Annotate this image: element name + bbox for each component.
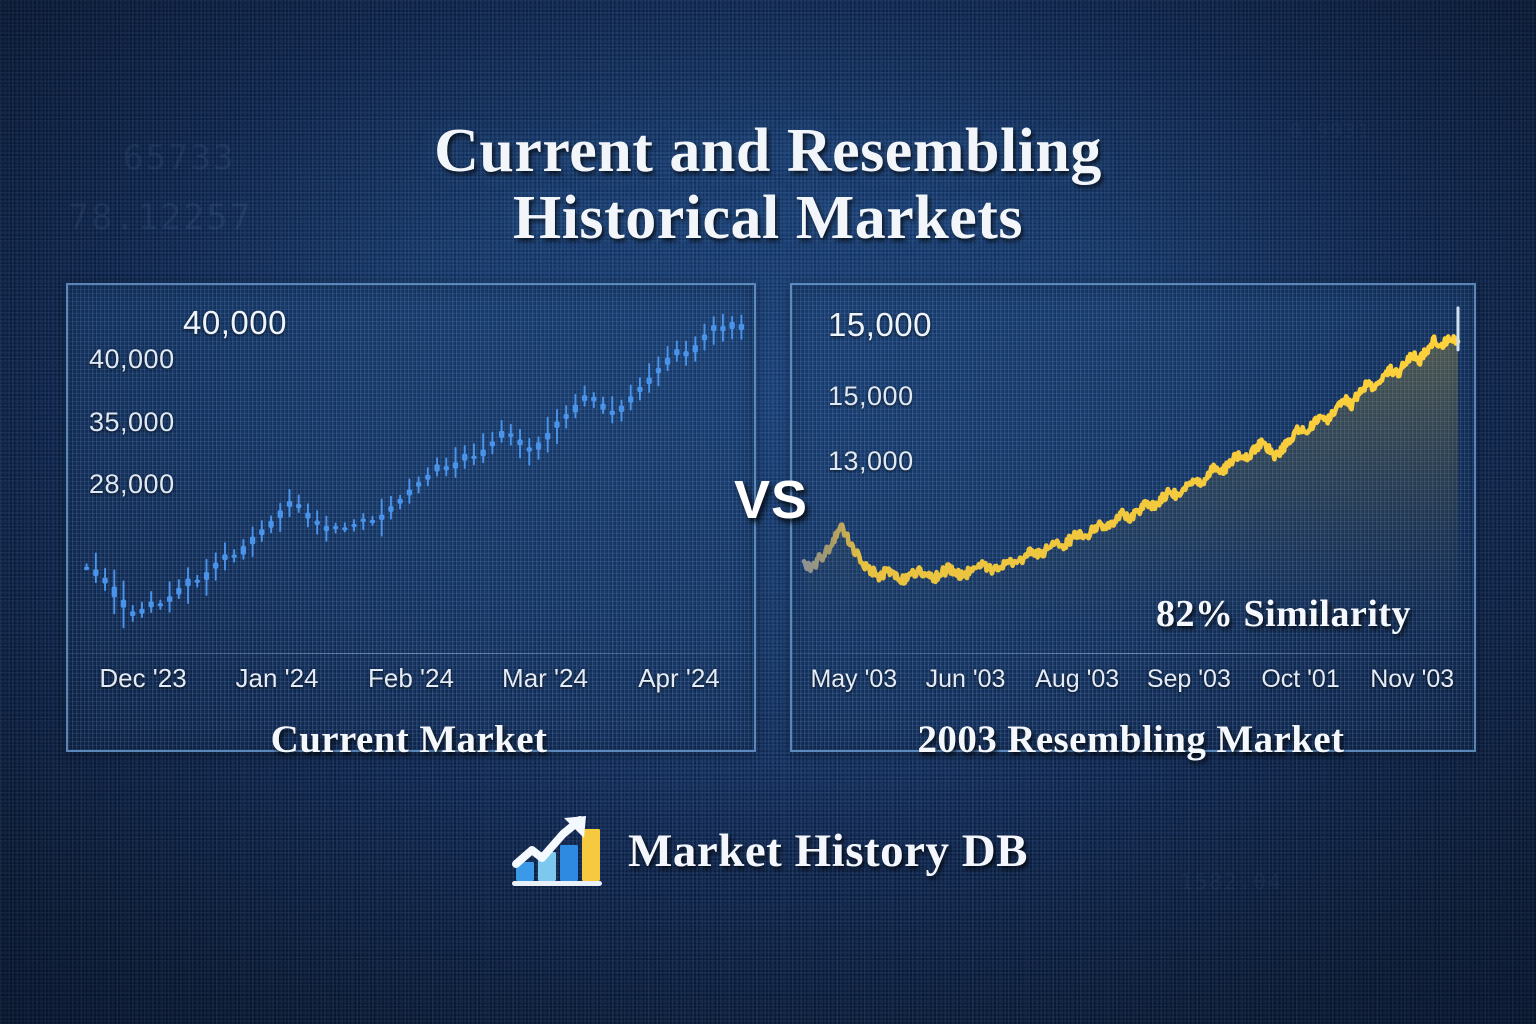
candle-body <box>563 414 568 419</box>
y-axis-label-left-1: 35,000 <box>89 407 175 438</box>
candle-body <box>102 578 107 584</box>
x-axis-rule-right <box>792 653 1474 654</box>
y-axis-label-left-0: 40,000 <box>89 344 175 375</box>
footer-branding: Market History DB <box>0 812 1536 890</box>
x-axis-rule-left <box>68 653 754 654</box>
chart-big-value-left: 40,000 <box>183 304 287 342</box>
candle-body <box>434 464 439 471</box>
vs-label: VS <box>731 469 811 531</box>
x-axis-tick-right-5: Nov '03 <box>1356 665 1468 694</box>
candle-body <box>241 546 246 555</box>
candle-body <box>388 506 393 512</box>
candle-body <box>231 555 236 558</box>
candle-body <box>250 536 255 544</box>
candle-body <box>517 439 522 445</box>
candle-body <box>130 611 135 616</box>
candle-body <box>370 520 375 523</box>
candle-body <box>324 526 329 531</box>
brand-name: Market History DB <box>628 824 1028 878</box>
x-axis-tick-left-0: Dec '23 <box>76 663 210 694</box>
candle-body <box>619 406 624 412</box>
candle-body <box>471 456 476 459</box>
candle-body <box>296 504 301 508</box>
candle-body <box>554 421 559 428</box>
candle-body <box>702 334 707 340</box>
candle-body <box>462 454 467 461</box>
candle-body <box>342 527 347 530</box>
candle-body <box>656 368 661 373</box>
candle-body <box>148 601 153 607</box>
x-axis-tick-left-3: Mar '24 <box>478 663 612 694</box>
candle-body <box>674 349 679 355</box>
candle-body <box>167 596 172 602</box>
candle-body <box>637 387 642 392</box>
candle-body <box>646 377 651 384</box>
candle-body <box>397 499 402 504</box>
candle-body <box>416 482 421 487</box>
candle-body <box>185 578 190 586</box>
candle-body <box>425 475 430 480</box>
candle-body <box>259 529 264 535</box>
page-title-line-2: Historical Markets <box>0 185 1536 253</box>
candle-body <box>222 554 227 560</box>
candle-body <box>665 357 670 364</box>
candle-body <box>711 325 716 331</box>
x-axis-tick-right-0: May '03 <box>798 665 910 694</box>
candle-body <box>693 345 698 353</box>
candle-body <box>600 404 605 410</box>
x-axis-tick-right-3: Sep '03 <box>1133 665 1245 694</box>
candle-body <box>508 433 513 437</box>
y-axis-label-left-2: 28,000 <box>89 469 175 500</box>
candle-body <box>268 521 273 528</box>
candle-body <box>195 580 200 583</box>
candle-body <box>683 351 688 356</box>
candle-body <box>499 431 504 438</box>
candle-body <box>213 563 218 569</box>
x-axis-labels-right: May '03 Jun '03 Aug '03 Sep '03 Oct '01 … <box>792 665 1474 694</box>
candle-body <box>490 441 495 446</box>
similarity-badge: 82% Similarity <box>1156 592 1411 636</box>
candle-body <box>351 524 356 527</box>
candle-body <box>121 600 126 608</box>
candle-body <box>379 514 384 519</box>
candle-body <box>139 609 144 614</box>
candle-body <box>278 510 283 518</box>
caption-resembling-market: 2003 Resembling Market <box>790 717 1472 762</box>
candle-body <box>739 324 744 330</box>
candle-body <box>176 588 181 595</box>
logo-bar-3 <box>582 829 600 881</box>
chart-big-value-right: 15,000 <box>828 306 932 344</box>
candle-body <box>444 466 449 471</box>
candle-body <box>453 462 458 468</box>
candle-body <box>204 572 209 580</box>
x-axis-tick-right-2: Aug '03 <box>1021 665 1133 694</box>
chart-panel-current-market[interactable]: 40,000 40,000 35,000 28,000 Dec '23 Jan … <box>66 283 756 752</box>
page-title: Current and Resembling Historical Market… <box>0 118 1536 253</box>
candle-body <box>84 567 89 570</box>
candle-body <box>93 569 98 576</box>
x-axis-tick-left-4: Apr '24 <box>612 663 746 694</box>
candle-body <box>610 411 615 415</box>
candle-body <box>582 395 587 401</box>
candle-body <box>527 447 532 451</box>
candle-body <box>287 501 292 507</box>
candle-body <box>591 397 596 402</box>
candle-body <box>158 603 163 606</box>
page-title-line-1: Current and Resembling <box>0 118 1536 186</box>
candle-body <box>305 512 310 518</box>
logo-bar-2 <box>560 845 578 881</box>
candle-body <box>480 450 485 457</box>
x-axis-tick-left-1: Jan '24 <box>210 663 344 694</box>
x-axis-tick-right-1: Jun '03 <box>910 665 1022 694</box>
candle-body <box>112 586 117 597</box>
infographic-root: 65733 78.12257 1582.04 0.9931 Current an… <box>0 0 1536 1024</box>
candle-body <box>628 396 633 402</box>
x-axis-tick-left-2: Feb '24 <box>344 663 478 694</box>
candle-body <box>545 433 550 440</box>
candle-body <box>361 519 366 522</box>
market-history-db-logo-icon <box>508 812 608 890</box>
candle-body <box>314 521 319 525</box>
candle-body <box>720 326 725 331</box>
chart-panel-resembling-market[interactable]: 15,000 15,000 13,000 May '03 Jun '03 Aug… <box>790 283 1476 752</box>
caption-current-market: Current Market <box>66 717 752 762</box>
y-axis-label-right-1: 13,000 <box>828 446 914 477</box>
candle-body <box>407 489 412 495</box>
logo-baseline <box>512 881 602 886</box>
candle-body <box>729 322 734 329</box>
x-axis-tick-right-4: Oct '01 <box>1245 665 1357 694</box>
x-axis-labels-left: Dec '23 Jan '24 Feb '24 Mar '24 Apr '24 <box>68 663 754 694</box>
y-axis-label-right-0: 15,000 <box>828 381 914 412</box>
candle-body <box>536 442 541 450</box>
candle-body <box>333 526 338 529</box>
candle-body <box>573 405 578 413</box>
